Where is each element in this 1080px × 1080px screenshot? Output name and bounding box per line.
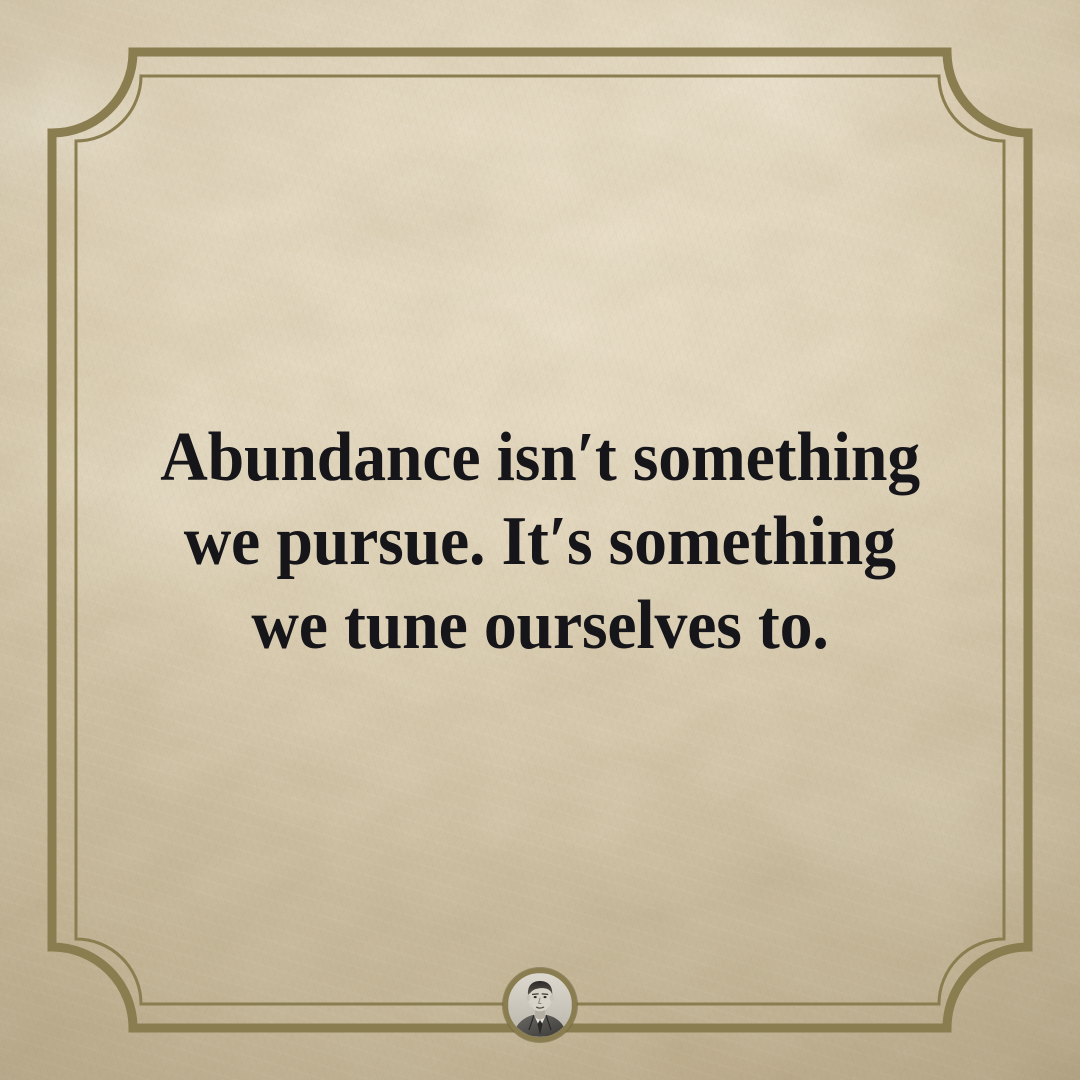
quote-line-1: Abundance isn′t something: [160, 416, 920, 500]
quote-line-3: we tune ourselves to.: [251, 584, 828, 668]
quote-line-2: we pursue. It′s something: [184, 500, 896, 584]
portrait-medallion-icon: [508, 973, 572, 1037]
author-portrait-medallion: [503, 968, 577, 1042]
quote-text-block: Abundance isn′t something we pursue. It′…: [0, 416, 1080, 668]
quote-card: Abundance isn′t something we pursue. It′…: [0, 0, 1080, 1080]
